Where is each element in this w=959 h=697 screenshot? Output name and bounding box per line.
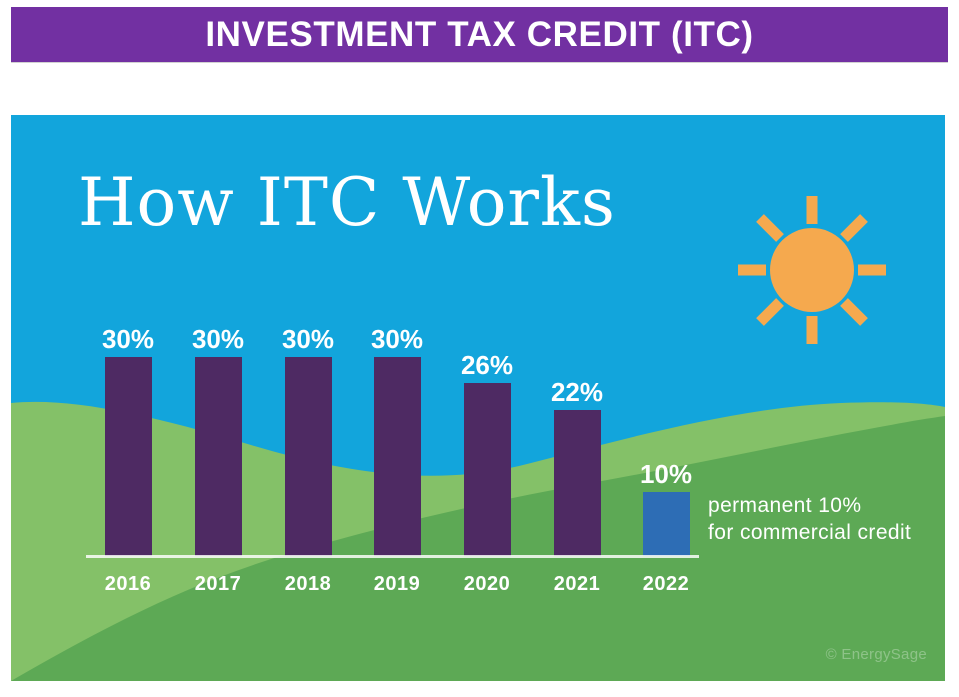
page-title: INVESTMENT TAX CREDIT (ITC) (205, 15, 753, 55)
x-tick-2018: 2018 (277, 573, 339, 596)
annotation-line-1: permanent 10% (708, 493, 911, 520)
x-tick-2019: 2019 (366, 573, 428, 596)
bar-chart-plot: 30% 30% 30% 30% 26% 22% 10% (11, 115, 945, 681)
bar-rect (374, 357, 421, 556)
bar-value-label: 30% (97, 326, 159, 352)
watermark: © EnergySage (826, 646, 927, 663)
bar-group-2021: 22% (546, 379, 608, 556)
bar-group-2017: 30% (187, 326, 249, 556)
bar-group-2018: 30% (277, 326, 339, 556)
infographic-panel: How ITC Works 30% 30% 30% (11, 115, 945, 681)
x-tick-2021: 2021 (546, 573, 608, 596)
annotation-line-2: for commercial credit (708, 520, 911, 547)
x-tick-2017: 2017 (187, 573, 249, 596)
bar-value-label: 22% (546, 379, 608, 405)
annotation-permanent-credit: permanent 10% for commercial credit (708, 493, 911, 547)
bar-rect (105, 357, 152, 556)
x-tick-2016: 2016 (97, 573, 159, 596)
header-banner: INVESTMENT TAX CREDIT (ITC) (11, 7, 948, 62)
bar-rect (464, 383, 511, 556)
axis-baseline (86, 555, 699, 558)
bar-value-label: 30% (366, 326, 428, 352)
bar-rect (195, 357, 242, 556)
x-tick-2020: 2020 (456, 573, 518, 596)
bar-group-2016: 30% (97, 326, 159, 556)
bar-value-label: 26% (456, 352, 518, 378)
bar-rect (643, 492, 690, 556)
bar-value-label: 30% (277, 326, 339, 352)
bar-group-2022: 10% (635, 461, 697, 556)
bar-group-2020: 26% (456, 352, 518, 556)
bar-value-label: 10% (635, 461, 697, 487)
bar-value-label: 30% (187, 326, 249, 352)
x-tick-2022: 2022 (635, 573, 697, 596)
bar-group-2019: 30% (366, 326, 428, 556)
bar-rect (554, 410, 601, 556)
bar-rect (285, 357, 332, 556)
